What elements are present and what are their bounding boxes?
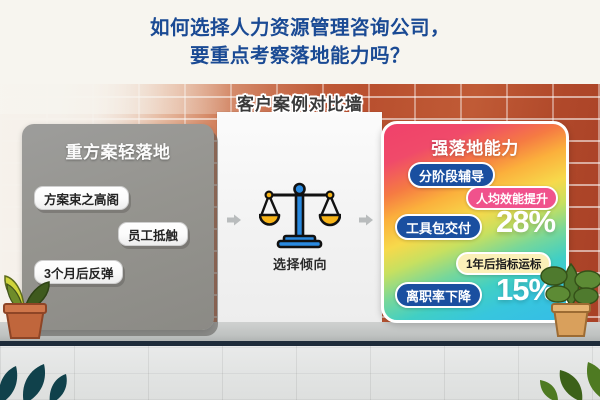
potted-plant-icon	[0, 246, 52, 347]
page-title-line-2: 要重点考察落地能力吗？	[190, 42, 410, 70]
right-card-chip[interactable]: 分阶段辅导	[408, 162, 495, 188]
balance-scale-icon	[259, 178, 341, 252]
wall-banner: 客户案例对比墙	[0, 88, 600, 116]
right-card-heading: 强落地能力	[384, 134, 566, 159]
selection-tendency-group: 选择倾向	[255, 178, 345, 278]
left-card-chip[interactable]: 方案束之高阁	[34, 186, 129, 210]
leaf-plant-icon	[538, 346, 600, 400]
selection-tendency-label: 选择倾向	[273, 254, 327, 273]
right-card-chip[interactable]: 离职率下降	[395, 282, 482, 308]
leaf-plant-icon	[0, 352, 80, 400]
baseboard-trim-line	[0, 341, 600, 346]
poster-canvas: 客户案例对比墙 如何选择人力资源管理咨询公司， 要重点考察落地能力吗？ 重方案轻…	[0, 0, 600, 400]
left-card-heading: 重方案轻落地	[22, 138, 214, 163]
right-card-chip[interactable]: 工具包交付	[395, 214, 482, 240]
tiled-floor	[0, 346, 600, 400]
metric-value: 28%	[496, 204, 555, 240]
poster-title-bar: 如何选择人力资源管理咨询公司， 要重点考察落地能力吗？	[0, 0, 600, 84]
potted-plant-icon	[540, 236, 600, 345]
left-card-chip[interactable]: 员工抵触	[118, 222, 188, 246]
page-title-line-1: 如何选择人力资源管理咨询公司，	[150, 14, 450, 42]
wall-banner-label: 客户案例对比墙	[237, 90, 363, 115]
arrow-right-icon	[358, 212, 374, 228]
arrow-right-icon	[226, 212, 242, 228]
